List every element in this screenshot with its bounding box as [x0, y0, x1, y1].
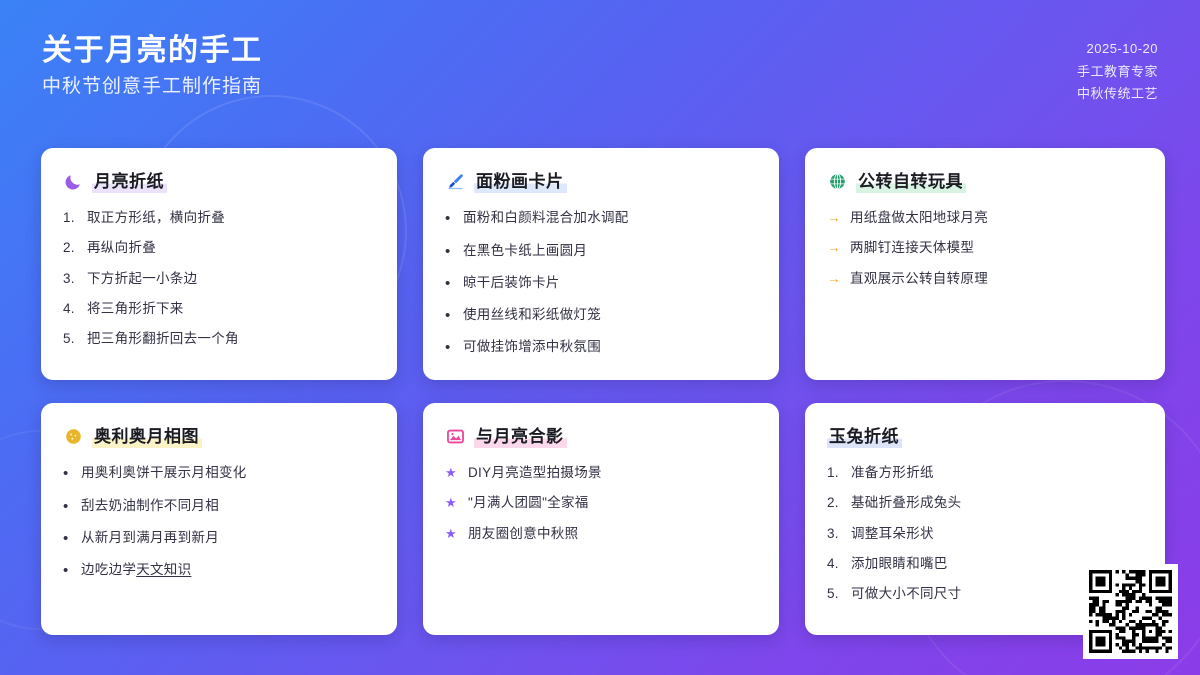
- card-header: 玉兔折纸: [827, 425, 1143, 448]
- list-marker-num: 5.: [827, 585, 843, 603]
- list-item: 5.把三角形翻折回去一个角: [63, 330, 375, 348]
- card-title: 奥利奥月相图: [92, 425, 202, 448]
- header-title-block: 关于月亮的手工 中秋节创意手工制作指南: [42, 34, 263, 98]
- list-marker-dot: •: [445, 274, 455, 294]
- qr-code-container[interactable]: [1083, 564, 1178, 659]
- crescent-moon-icon: [63, 172, 83, 192]
- list-item: 3.调整耳朵形状: [827, 525, 1143, 543]
- card-title: 玉兔折纸: [827, 425, 902, 448]
- list-item-text: 基础折叠形成兔头: [851, 494, 961, 512]
- card-title: 月亮折纸: [92, 170, 167, 193]
- list-item-text: 调整耳朵形状: [851, 525, 934, 543]
- list-item-text: 将三角形折下来: [87, 300, 184, 318]
- list-item-text: DIY月亮造型拍摄场景: [468, 464, 602, 482]
- list-item: 2.基础折叠形成兔头: [827, 494, 1143, 512]
- content-card[interactable]: 与月亮合影★DIY月亮造型拍摄场景★"月满人团圆"全家福★朋友圈创意中秋照: [423, 403, 779, 635]
- list-item-text: "月满人团圆"全家福: [468, 494, 589, 512]
- card-list: ★DIY月亮造型拍摄场景★"月满人团圆"全家福★朋友圈创意中秋照: [445, 464, 757, 543]
- list-item: 2.再纵向折叠: [63, 239, 375, 257]
- list-item: →直观展示公转自转原理: [827, 270, 1143, 288]
- list-item: 3.下方折起一小条边: [63, 270, 375, 288]
- list-marker-num: 4.: [63, 300, 79, 318]
- list-marker-star: ★: [445, 464, 460, 482]
- list-item-text: 用纸盘做太阳地球月亮: [850, 209, 988, 227]
- list-item: •面粉和白颜料混合加水调配: [445, 209, 757, 229]
- list-item-text: 可做挂饰增添中秋氛围: [463, 338, 601, 356]
- card-title: 公转自转玩具: [856, 170, 966, 193]
- card-header: 面粉画卡片: [445, 170, 757, 193]
- content-card[interactable]: 面粉画卡片•面粉和白颜料混合加水调配•在黑色卡纸上画圆月•晾干后装饰卡片•使用丝…: [423, 148, 779, 380]
- list-item-text: 可做大小不同尺寸: [851, 585, 961, 603]
- cookie-icon: [63, 427, 83, 447]
- list-item-text: 朋友圈创意中秋照: [468, 525, 578, 543]
- list-item: 1.取正方形纸，横向折叠: [63, 209, 375, 227]
- list-item: ★朋友圈创意中秋照: [445, 525, 757, 543]
- list-item-text: 两脚钉连接天体模型: [850, 239, 974, 257]
- list-item-text: 边吃边学天文知识: [81, 561, 191, 579]
- list-item-text: 从新月到满月再到新月: [81, 529, 219, 547]
- list-item-text: 添加眼睛和嘴巴: [851, 555, 948, 573]
- list-marker-num: 1.: [827, 464, 843, 482]
- poster-header: 关于月亮的手工 中秋节创意手工制作指南 2025-10-20 手工教育专家 中秋…: [0, 0, 1200, 136]
- qr-code: [1089, 570, 1172, 653]
- card-header: 公转自转玩具: [827, 170, 1143, 193]
- list-item-text: 刮去奶油制作不同月相: [81, 497, 219, 515]
- card-list: →用纸盘做太阳地球月亮→两脚钉连接天体模型→直观展示公转自转原理: [827, 209, 1143, 288]
- list-item: •边吃边学天文知识: [63, 561, 375, 581]
- list-marker-star: ★: [445, 494, 460, 512]
- poster-canvas: 关于月亮的手工 中秋节创意手工制作指南 2025-10-20 手工教育专家 中秋…: [0, 0, 1200, 675]
- card-list: 1.取正方形纸，横向折叠2.再纵向折叠3.下方折起一小条边4.将三角形折下来5.…: [63, 209, 375, 348]
- list-marker-dot: •: [63, 497, 73, 517]
- list-item: ★"月满人团圆"全家福: [445, 494, 757, 512]
- paintbrush-icon: [445, 172, 465, 192]
- list-marker-dot: •: [445, 209, 455, 229]
- list-item: →两脚钉连接天体模型: [827, 239, 1143, 257]
- list-item: •从新月到满月再到新月: [63, 529, 375, 549]
- list-marker-dot: •: [63, 561, 73, 581]
- list-marker-num: 2.: [827, 494, 843, 512]
- list-item: •刮去奶油制作不同月相: [63, 497, 375, 517]
- list-item-text: 在黑色卡纸上画圆月: [463, 242, 587, 260]
- list-item-text: 准备方形折纸: [851, 464, 934, 482]
- list-item-text: 晾干后装饰卡片: [463, 274, 560, 292]
- list-item-text: 用奥利奥饼干展示月相变化: [81, 464, 247, 482]
- card-list: •用奥利奥饼干展示月相变化•刮去奶油制作不同月相•从新月到满月再到新月•边吃边学…: [63, 464, 375, 581]
- card-header: 月亮折纸: [63, 170, 375, 193]
- list-marker-dot: •: [63, 529, 73, 549]
- list-marker-star: ★: [445, 525, 460, 543]
- list-marker-dot: •: [445, 242, 455, 262]
- list-marker-arrow: →: [827, 209, 842, 227]
- list-marker-dot: •: [445, 306, 455, 326]
- list-marker-arrow: →: [827, 270, 842, 288]
- list-item: ★DIY月亮造型拍摄场景: [445, 464, 757, 482]
- list-item: •晾干后装饰卡片: [445, 274, 757, 294]
- list-marker-num: 3.: [63, 270, 79, 288]
- list-marker-num: 3.: [827, 525, 843, 543]
- content-card[interactable]: 公转自转玩具→用纸盘做太阳地球月亮→两脚钉连接天体模型→直观展示公转自转原理: [805, 148, 1165, 380]
- list-item: •可做挂饰增添中秋氛围: [445, 338, 757, 358]
- content-card[interactable]: 月亮折纸1.取正方形纸，横向折叠2.再纵向折叠3.下方折起一小条边4.将三角形折…: [41, 148, 397, 380]
- list-item-text: 面粉和白颜料混合加水调配: [463, 209, 629, 227]
- card-grid: 月亮折纸1.取正方形纸，横向折叠2.再纵向折叠3.下方折起一小条边4.将三角形折…: [41, 148, 1161, 635]
- page-subtitle: 中秋节创意手工制作指南: [42, 77, 263, 98]
- list-item-text: 使用丝线和彩纸做灯笼: [463, 306, 601, 324]
- card-title: 与月亮合影: [474, 425, 567, 448]
- card-header: 奥利奥月相图: [63, 425, 375, 448]
- list-item-text: 把三角形翻折回去一个角: [87, 330, 239, 348]
- list-item-text: 取正方形纸，横向折叠: [87, 209, 225, 227]
- list-item-text: 下方折起一小条边: [87, 270, 197, 288]
- meta-date: 2025-10-20: [1087, 40, 1159, 58]
- list-item: 4.将三角形折下来: [63, 300, 375, 318]
- photo-frame-icon: [445, 427, 465, 447]
- page-title: 关于月亮的手工: [42, 34, 263, 67]
- card-list: •面粉和白颜料混合加水调配•在黑色卡纸上画圆月•晾干后装饰卡片•使用丝线和彩纸做…: [445, 209, 757, 358]
- globe-icon: [827, 172, 847, 192]
- list-item: 1.准备方形折纸: [827, 464, 1143, 482]
- meta-category: 中秋传统工艺: [1077, 85, 1158, 103]
- meta-author: 手工教育专家: [1077, 63, 1158, 81]
- list-marker-num: 4.: [827, 555, 843, 573]
- list-marker-num: 1.: [63, 209, 79, 227]
- list-item: •在黑色卡纸上画圆月: [445, 242, 757, 262]
- list-marker-arrow: →: [827, 239, 842, 257]
- list-item: •使用丝线和彩纸做灯笼: [445, 306, 757, 326]
- list-marker-dot: •: [63, 464, 73, 484]
- list-marker-num: 2.: [63, 239, 79, 257]
- card-title: 面粉画卡片: [474, 170, 567, 193]
- list-item: →用纸盘做太阳地球月亮: [827, 209, 1143, 227]
- list-item-text: 再纵向折叠: [87, 239, 156, 257]
- list-item-text: 直观展示公转自转原理: [850, 270, 988, 288]
- content-card[interactable]: 奥利奥月相图•用奥利奥饼干展示月相变化•刮去奶油制作不同月相•从新月到满月再到新…: [41, 403, 397, 635]
- list-item: •用奥利奥饼干展示月相变化: [63, 464, 375, 484]
- header-meta-block: 2025-10-20 手工教育专家 中秋传统工艺: [1077, 34, 1158, 103]
- list-marker-dot: •: [445, 338, 455, 358]
- card-header: 与月亮合影: [445, 425, 757, 448]
- list-marker-num: 5.: [63, 330, 79, 348]
